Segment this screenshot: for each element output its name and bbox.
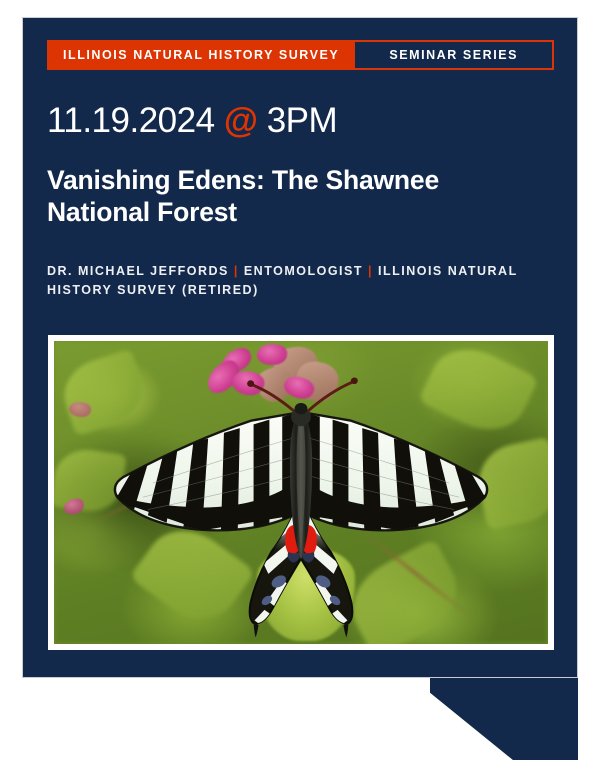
event-datetime: 11.19.2024 @ 3PM (47, 103, 337, 140)
at-symbol-icon: @ (224, 101, 258, 140)
header-banner: ILLINOIS NATURAL HISTORY SURVEY SEMINAR … (47, 40, 554, 70)
antenna-club (351, 377, 358, 384)
header-series-block: SEMINAR SERIES (355, 40, 554, 70)
speaker-credit: DR. MICHAEL JEFFORDS | ENTOMOLOGIST | IL… (47, 262, 547, 301)
photo-frame (48, 335, 554, 650)
butterfly-photo (54, 341, 548, 644)
speaker-role: ENTOMOLOGIST (244, 264, 363, 278)
speaker-name: DR. MICHAEL JEFFORDS (47, 264, 229, 278)
seminar-poster: ILLINOIS NATURAL HISTORY SURVEY SEMINAR … (0, 0, 600, 777)
separator-icon: | (234, 264, 239, 278)
event-time: 3PM (267, 101, 337, 140)
header-org-block: ILLINOIS NATURAL HISTORY SURVEY (47, 40, 355, 70)
page-title: Vanishing Edens: The Shawnee National Fo… (47, 164, 537, 228)
header-series-label: SEMINAR SERIES (389, 49, 518, 62)
head (295, 403, 308, 414)
antenna-club (247, 380, 254, 387)
event-date: 11.19.2024 (47, 101, 215, 140)
right-forewing (301, 412, 490, 530)
separator-icon: | (368, 264, 373, 278)
zebra-swallowtail-butterfly (54, 341, 548, 644)
left-forewing (112, 412, 301, 530)
header-org-label: ILLINOIS NATURAL HISTORY SURVEY (63, 49, 339, 62)
footer: Prairie Research Institute UNIVERSITY OF… (0, 678, 600, 777)
